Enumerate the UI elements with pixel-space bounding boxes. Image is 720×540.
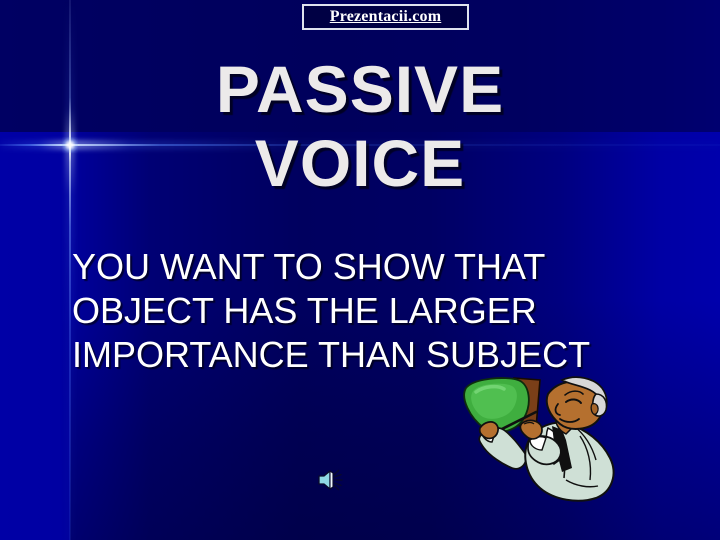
speaker-sound-icon[interactable] xyxy=(316,466,346,494)
slide-canvas: Prezentacii.com PASSIVE VOICE YOU WANT T… xyxy=(0,0,720,540)
teacher-at-chalkboard-clipart xyxy=(462,376,632,508)
site-watermark-label: Prezentacii.com xyxy=(330,8,442,26)
site-watermark-badge[interactable]: Prezentacii.com xyxy=(302,4,469,30)
slide-title: PASSIVE VOICE xyxy=(0,52,720,200)
slide-body-line-1: YOU WANT TO SHOW THAT xyxy=(72,245,672,289)
slide-title-line-1: PASSIVE xyxy=(0,52,720,126)
slide-body-line-2: OBJECT HAS THE LARGER xyxy=(72,289,672,333)
slide-title-line-2: VOICE xyxy=(0,126,720,200)
slide-body-line-3: IMPORTANCE THAN SUBJECT xyxy=(72,333,672,377)
slide-body-text: YOU WANT TO SHOW THAT OBJECT HAS THE LAR… xyxy=(72,245,672,377)
left-arm xyxy=(479,422,526,469)
